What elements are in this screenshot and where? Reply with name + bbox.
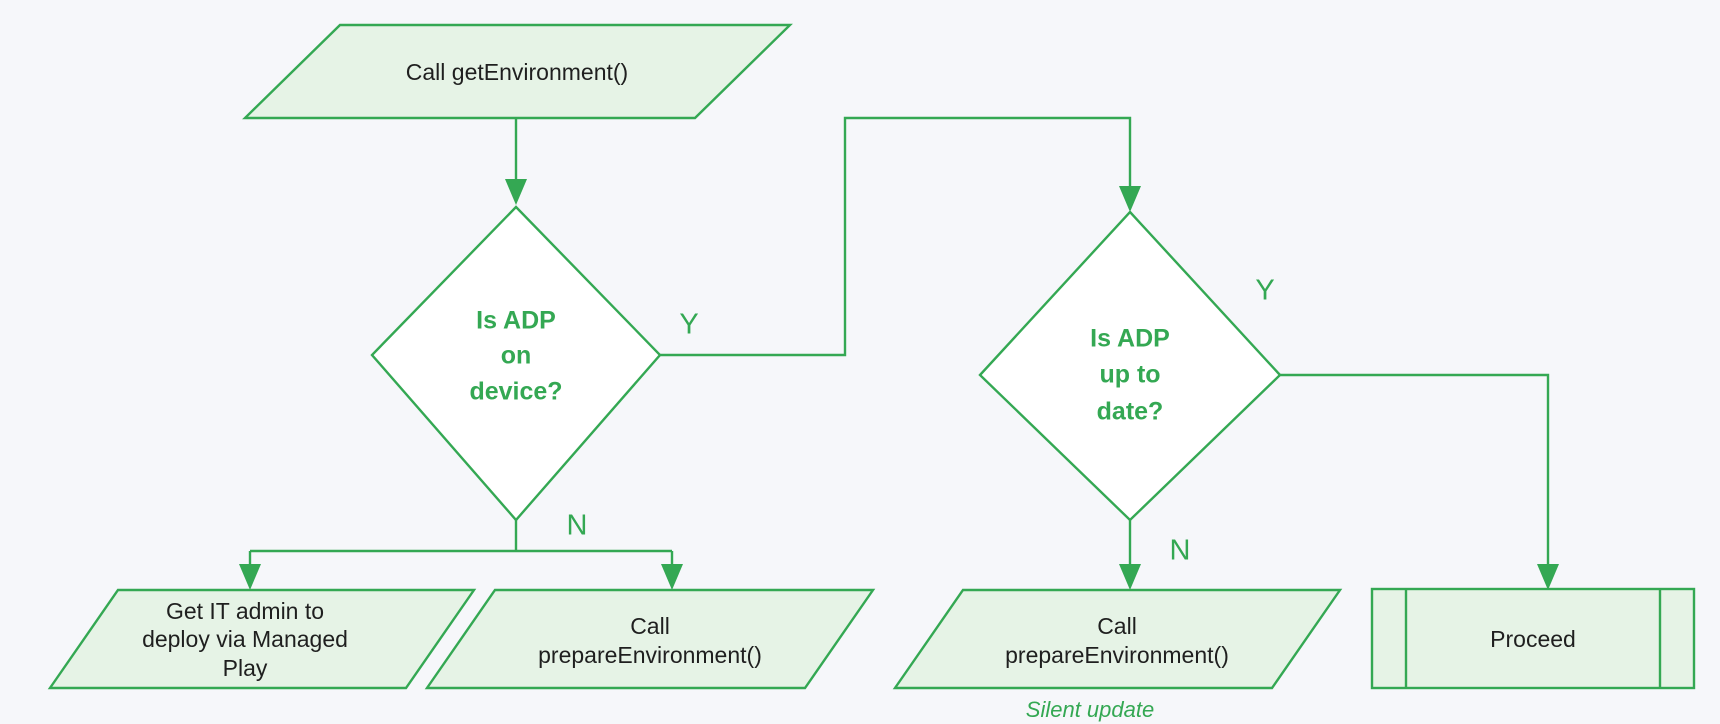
edge-decision2-yes — [1280, 375, 1559, 590]
arrowhead-icon — [1119, 564, 1141, 590]
node-is-adp-up-to-date-line2: up to — [1099, 361, 1160, 389]
node-get-it-admin-deploy-line1: Get IT admin to — [166, 598, 324, 624]
flowchart-canvas: Call getEnvironment() Is ADP on device? … — [0, 0, 1720, 724]
flowchart-svg: Call getEnvironment() Is ADP on device? … — [0, 0, 1720, 724]
node-is-adp-on-device-line2: on — [501, 342, 532, 370]
node-is-adp-up-to-date-line1: Is ADP — [1090, 325, 1170, 353]
node-proceed-label: Proceed — [1490, 626, 1576, 652]
arrowhead-icon — [1537, 564, 1559, 590]
branch-label-decision1-yes: Y — [679, 309, 698, 341]
arrowhead-icon — [661, 564, 683, 590]
node-call-prepare-environment-right-line1: Call — [1097, 613, 1137, 639]
node-is-adp-on-device[interactable]: Is ADP on device? — [372, 207, 660, 520]
node-call-get-environment-label: Call getEnvironment() — [406, 59, 628, 85]
node-get-it-admin-deploy[interactable]: Get IT admin to deploy via Managed Play — [50, 590, 474, 688]
edge-start-to-decision1 — [505, 118, 527, 205]
node-call-prepare-environment-left-line1: Call — [630, 613, 670, 639]
branch-label-decision2-yes: Y — [1255, 275, 1274, 307]
arrowhead-icon — [505, 179, 527, 205]
node-call-prepare-environment-right[interactable]: Call prepareEnvironment() — [895, 590, 1340, 688]
arrowhead-icon — [239, 564, 261, 590]
branch-label-decision1-no: N — [567, 510, 588, 542]
edge-decision2-no — [1119, 520, 1141, 590]
edge-decision1-no — [239, 520, 683, 590]
caption-silent-update: Silent update — [1026, 697, 1154, 722]
node-is-adp-on-device-line3: device? — [469, 378, 562, 406]
node-call-get-environment[interactable]: Call getEnvironment() — [245, 25, 790, 118]
node-is-adp-up-to-date[interactable]: Is ADP up to date? — [980, 212, 1280, 520]
node-call-prepare-environment-left[interactable]: Call prepareEnvironment() — [427, 590, 873, 688]
node-call-prepare-environment-right-line2: prepareEnvironment() — [1005, 642, 1229, 668]
node-get-it-admin-deploy-line2: deploy via Managed — [142, 626, 348, 652]
node-is-adp-on-device-line1: Is ADP — [476, 307, 556, 335]
node-proceed[interactable]: Proceed — [1372, 589, 1694, 688]
node-is-adp-up-to-date-line3: date? — [1097, 398, 1164, 426]
arrowhead-icon — [1119, 186, 1141, 212]
branch-label-decision2-no: N — [1170, 535, 1191, 567]
node-call-prepare-environment-left-line2: prepareEnvironment() — [538, 642, 762, 668]
node-get-it-admin-deploy-line3: Play — [223, 655, 268, 681]
